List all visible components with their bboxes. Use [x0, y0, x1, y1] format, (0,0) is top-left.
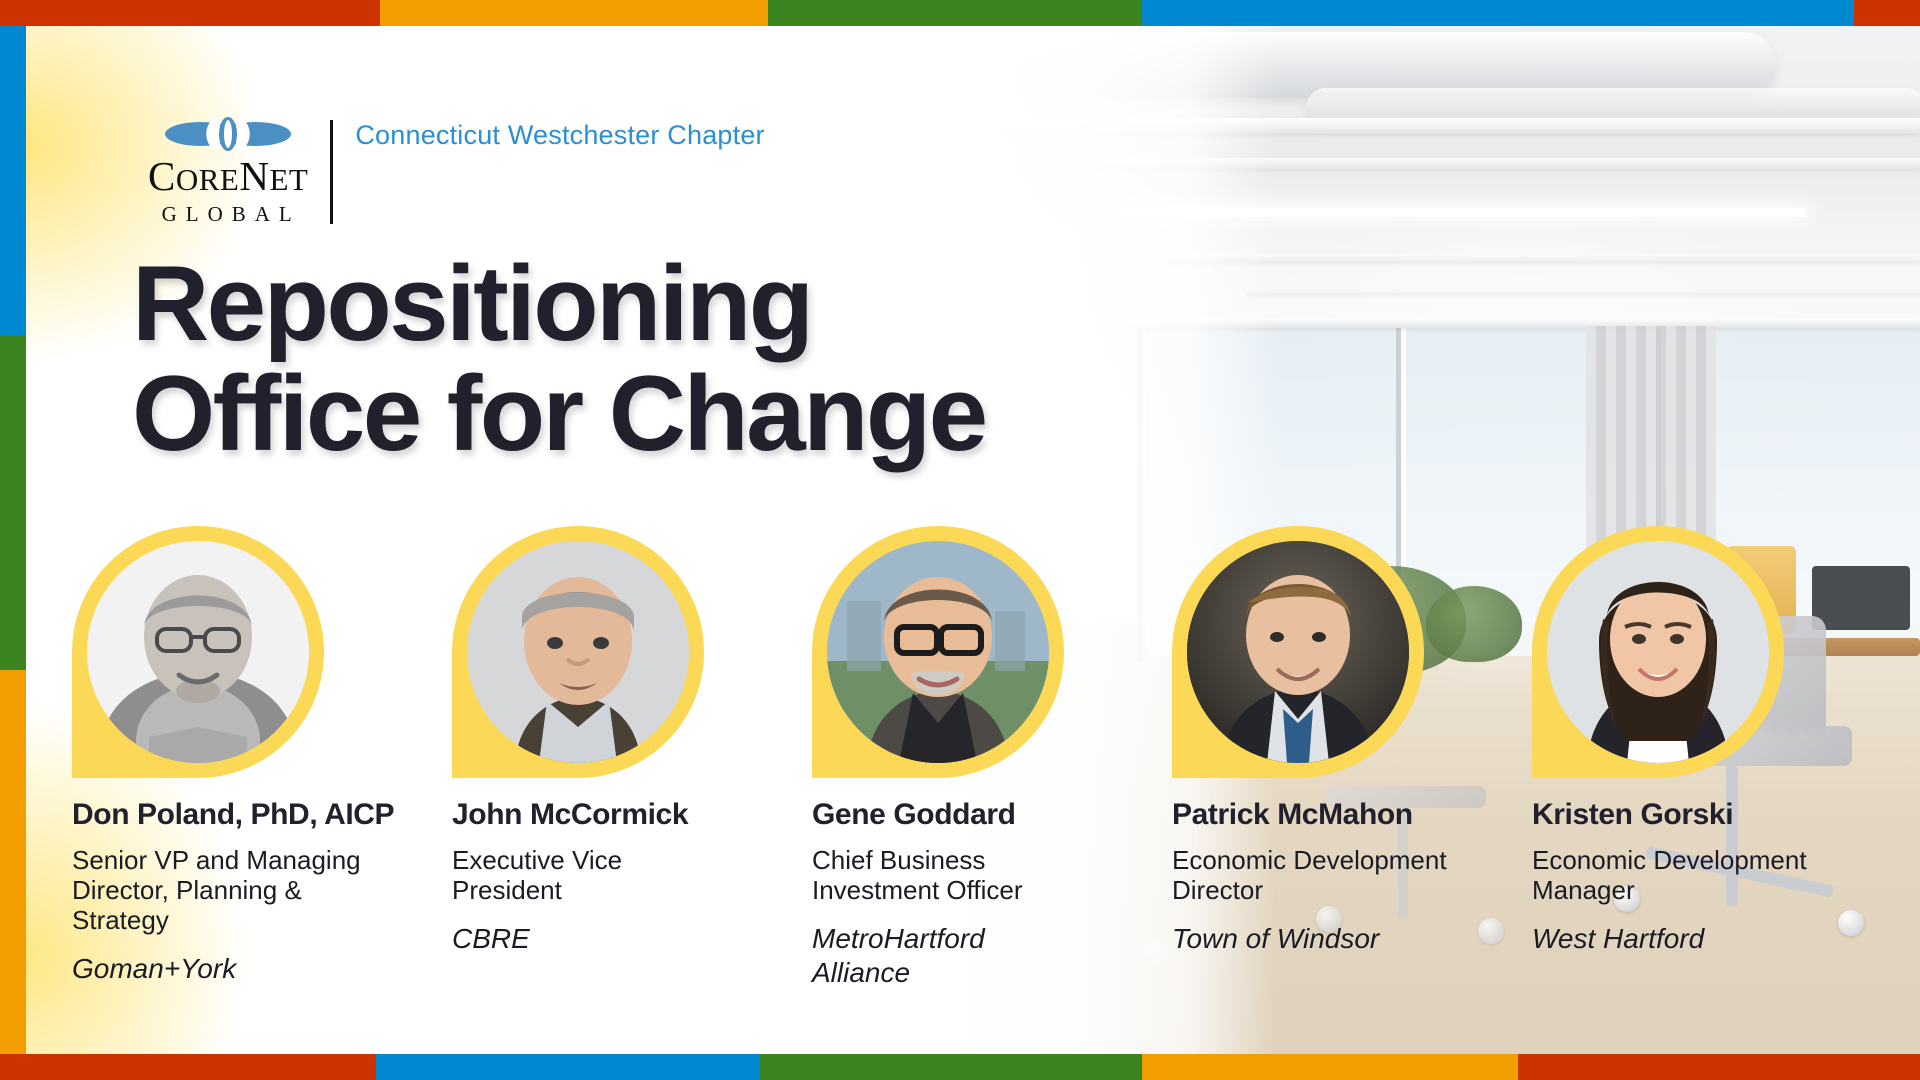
headshot-portrait-icon [827, 541, 1049, 763]
border-bottom-orange [1142, 1054, 1518, 1080]
speaker-card-3: Gene Goddard Chief Business Investment O… [812, 526, 1112, 990]
page-title: Repositioning Office for Change [132, 248, 986, 468]
border-top-blue [1142, 0, 1854, 26]
corenet-global-text: GLOBAL [156, 202, 301, 227]
speaker-title: Executive Vice President [452, 845, 752, 905]
avatar-kristen-gorski [1532, 526, 1828, 784]
corenet-word-core: CORENET [148, 153, 308, 199]
speaker-name: Gene Goddard [812, 798, 1112, 832]
speaker-card-1: Don Poland, PhD, AICP Senior VP and Mana… [72, 526, 372, 986]
speaker-org: Town of Windsor [1172, 922, 1472, 956]
border-top-orange [380, 0, 768, 26]
corenet-eye-icon [163, 114, 293, 154]
ceiling-beam-4 [1246, 288, 1920, 295]
headshot-portrait-icon [87, 541, 309, 763]
speaker-org: Goman+York [72, 952, 372, 986]
avatar-patrick-mcmahon [1172, 526, 1468, 784]
event-poster: CORENET GLOBAL Connecticut Westchester C… [0, 0, 1920, 1080]
chapter-name: Connecticut Westchester Chapter [355, 120, 764, 152]
headshot-portrait-icon [1547, 541, 1769, 763]
avatar-john-mccormick [452, 526, 748, 784]
corenet-wordmark: CORENET [148, 156, 308, 197]
speaker-title: Senior VP and Managing Director, Plannin… [72, 845, 372, 935]
poster-canvas: CORENET GLOBAL Connecticut Westchester C… [26, 26, 1920, 1054]
speaker-card-4: Patrick McMahon Economic Development Dir… [1172, 526, 1472, 956]
speaker-name: Patrick McMahon [1172, 798, 1472, 832]
avatar-gene-goddard [812, 526, 1108, 784]
avatar-photo [87, 541, 309, 763]
speaker-name: Don Poland, PhD, AICP [72, 798, 372, 832]
logo-divider [330, 120, 333, 224]
ceiling-beam-3 [1166, 254, 1920, 263]
headshot-portrait-icon [467, 541, 689, 763]
border-bottom-blue [376, 1054, 760, 1080]
speaker-name: Kristen Gorski [1532, 798, 1832, 832]
avatar-photo [827, 541, 1049, 763]
border-top-green [768, 0, 1142, 26]
avatar-don-poland [72, 526, 368, 784]
speaker-title: Economic Development Manager [1532, 845, 1832, 905]
avatar-photo [1187, 541, 1409, 763]
avatar-photo [1547, 541, 1769, 763]
border-top-red-end [1854, 0, 1920, 26]
speakers-row: Don Poland, PhD, AICP Senior VP and Mana… [26, 526, 1920, 1046]
border-left-green [0, 336, 26, 670]
speaker-name: John McCormick [452, 798, 752, 832]
speaker-card-5: Kristen Gorski Economic Development Mana… [1532, 526, 1832, 956]
corenet-logo-mark: CORENET GLOBAL [148, 114, 308, 227]
speaker-org: MetroHartford Alliance [812, 922, 1112, 989]
speaker-org: CBRE [452, 922, 752, 956]
border-top-red [0, 0, 380, 26]
speaker-title: Chief Business Investment Officer [812, 845, 1112, 905]
border-left-orange [0, 670, 26, 1054]
border-bottom-green [760, 1054, 1142, 1080]
speaker-title: Economic Development Director [1172, 845, 1472, 905]
speaker-org: West Hartford [1532, 922, 1832, 956]
speaker-card-2: John McCormick Executive Vice President … [452, 526, 752, 956]
border-bottom-red-end [1518, 1054, 1920, 1080]
border-bottom-red [0, 1054, 376, 1080]
corenet-logo: CORENET GLOBAL Connecticut Westchester C… [148, 114, 765, 227]
border-left-blue [0, 26, 26, 336]
headshot-portrait-icon [1187, 541, 1409, 763]
avatar-photo [467, 541, 689, 763]
